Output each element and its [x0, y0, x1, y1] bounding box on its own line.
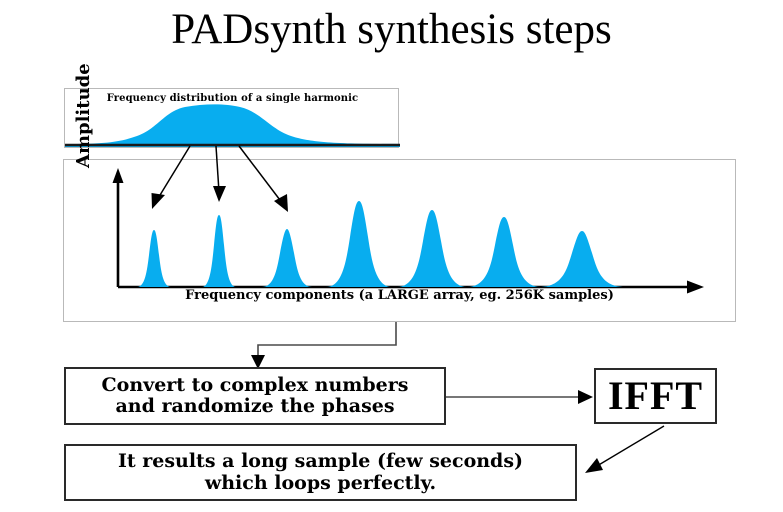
ifft-step-box[interactable]: IFFT	[594, 368, 717, 424]
x-axis-label: Frequency components (a LARGE array, eg.…	[63, 288, 736, 303]
result-step-box[interactable]: It results a long sample (few seconds) w…	[64, 444, 577, 501]
result-step-label: It results a long sample (few seconds) w…	[118, 451, 523, 494]
bell-curve-graphic	[65, 103, 400, 147]
convert-to-ifft-arrowhead	[578, 390, 593, 404]
harmonic-distribution-panel: Frequency distribution of a single harmo…	[64, 88, 399, 148]
y-axis-label: Amplitude	[72, 58, 96, 168]
ifft-step-label: IFFT	[608, 376, 703, 416]
page-title: PADsynth synthesis steps	[0, 6, 783, 53]
convert-step-label: Convert to complex numbers and randomize…	[102, 375, 409, 418]
convert-step-box[interactable]: Convert to complex numbers and randomize…	[64, 367, 446, 425]
ifft-to-result-arrowhead	[585, 458, 603, 473]
spectrum-to-convert-line	[258, 322, 396, 360]
slide-canvas: PADsynth synthesis steps Frequency distr…	[0, 0, 783, 512]
ifft-to-result-line	[597, 426, 664, 466]
bell-curve-fill	[65, 104, 400, 147]
